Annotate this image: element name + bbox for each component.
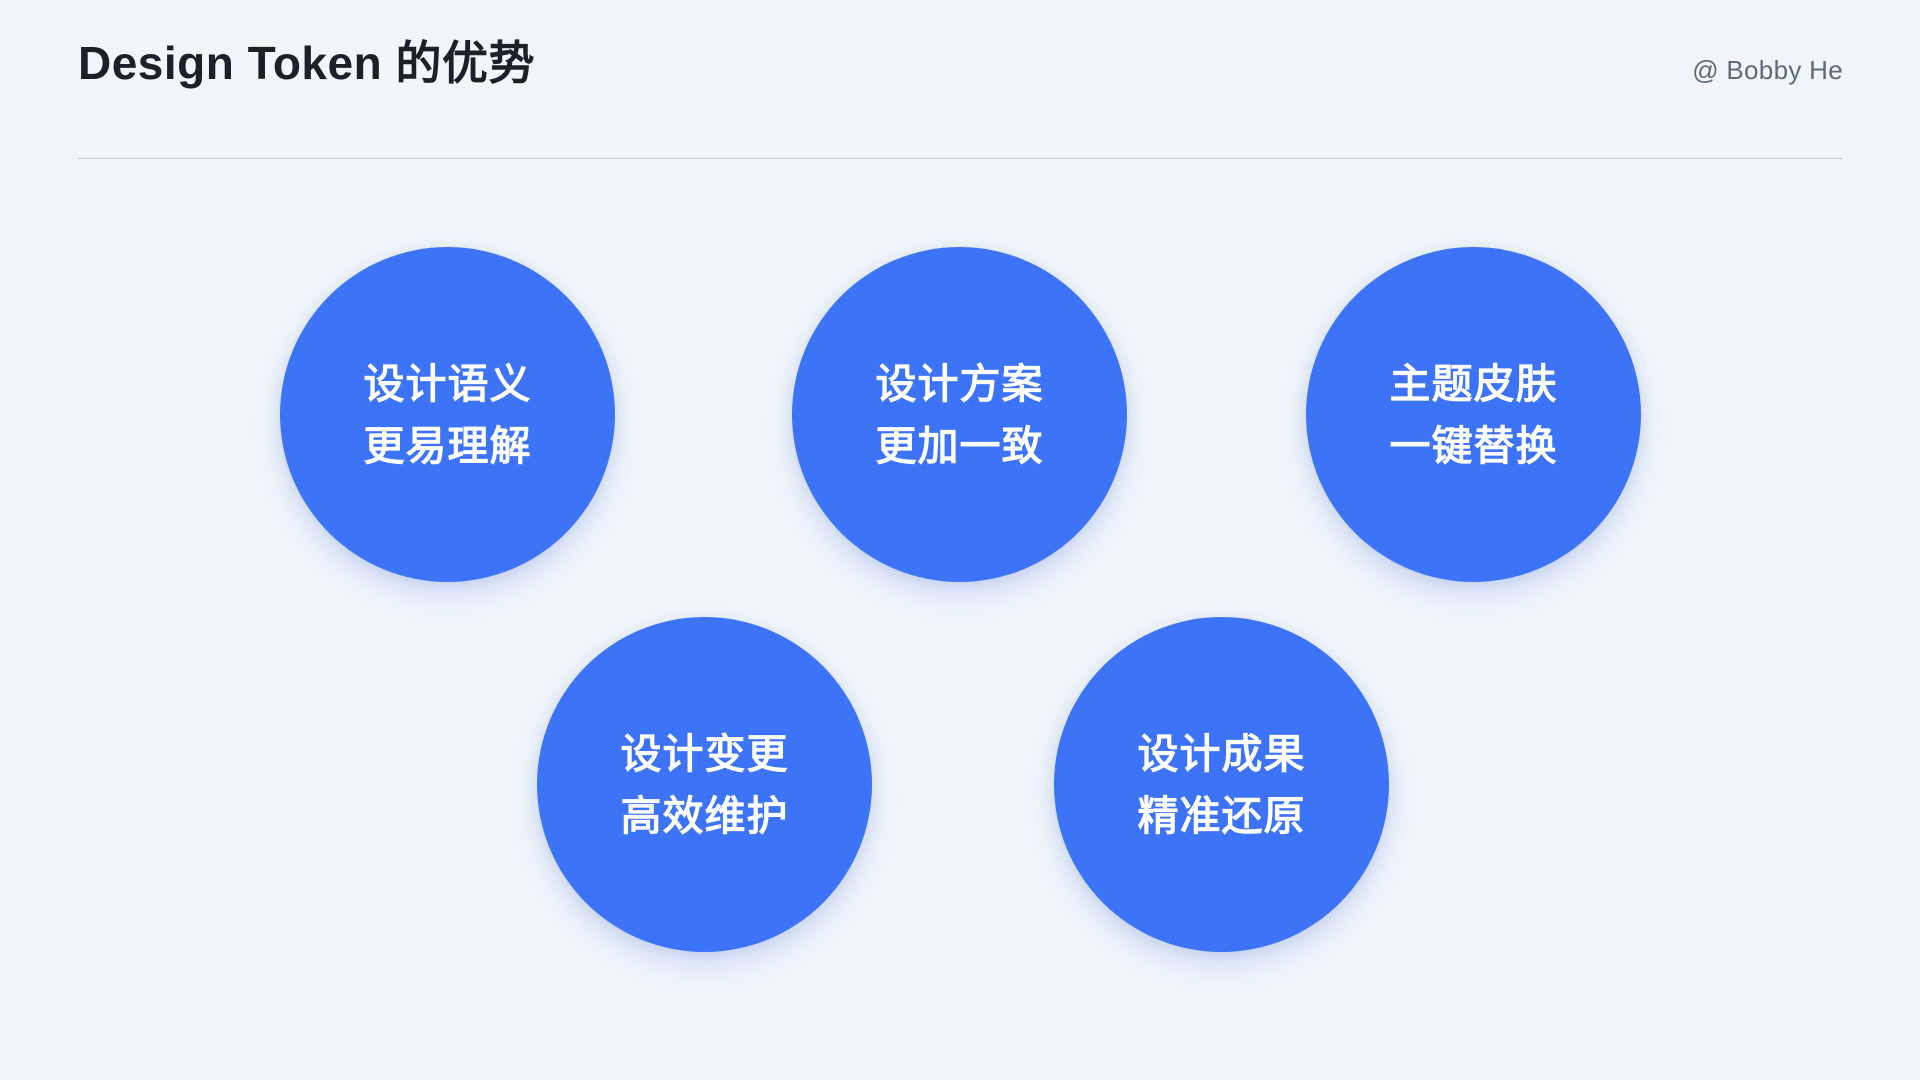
benefit-bubble-4[interactable]: 设计变更 高效维护 [537,617,872,952]
benefit-bubble-2[interactable]: 设计方案 更加一致 [792,247,1127,582]
benefit-bubble-3-line-2: 一键替换 [1390,415,1558,477]
benefit-bubble-3[interactable]: 主题皮肤 一键替换 [1306,247,1641,582]
benefit-bubble-2-line-2: 更加一致 [876,415,1044,477]
benefit-bubble-1-line-1: 设计语义 [364,353,532,415]
benefit-bubble-5-line-1: 设计成果 [1138,723,1306,785]
benefits-bubble-group: 设计语义 更易理解 设计方案 更加一致 主题皮肤 一键替换 设计变更 高效维护 … [0,0,1920,1080]
benefit-bubble-2-line-1: 设计方案 [876,353,1044,415]
benefit-bubble-1[interactable]: 设计语义 更易理解 [280,247,615,582]
benefit-bubble-5-line-2: 精准还原 [1138,785,1306,847]
benefit-bubble-5[interactable]: 设计成果 精准还原 [1054,617,1389,952]
benefit-bubble-1-line-2: 更易理解 [364,415,532,477]
benefit-bubble-4-line-2: 高效维护 [621,785,789,847]
benefit-bubble-4-line-1: 设计变更 [621,723,789,785]
benefit-bubble-3-line-1: 主题皮肤 [1390,353,1558,415]
